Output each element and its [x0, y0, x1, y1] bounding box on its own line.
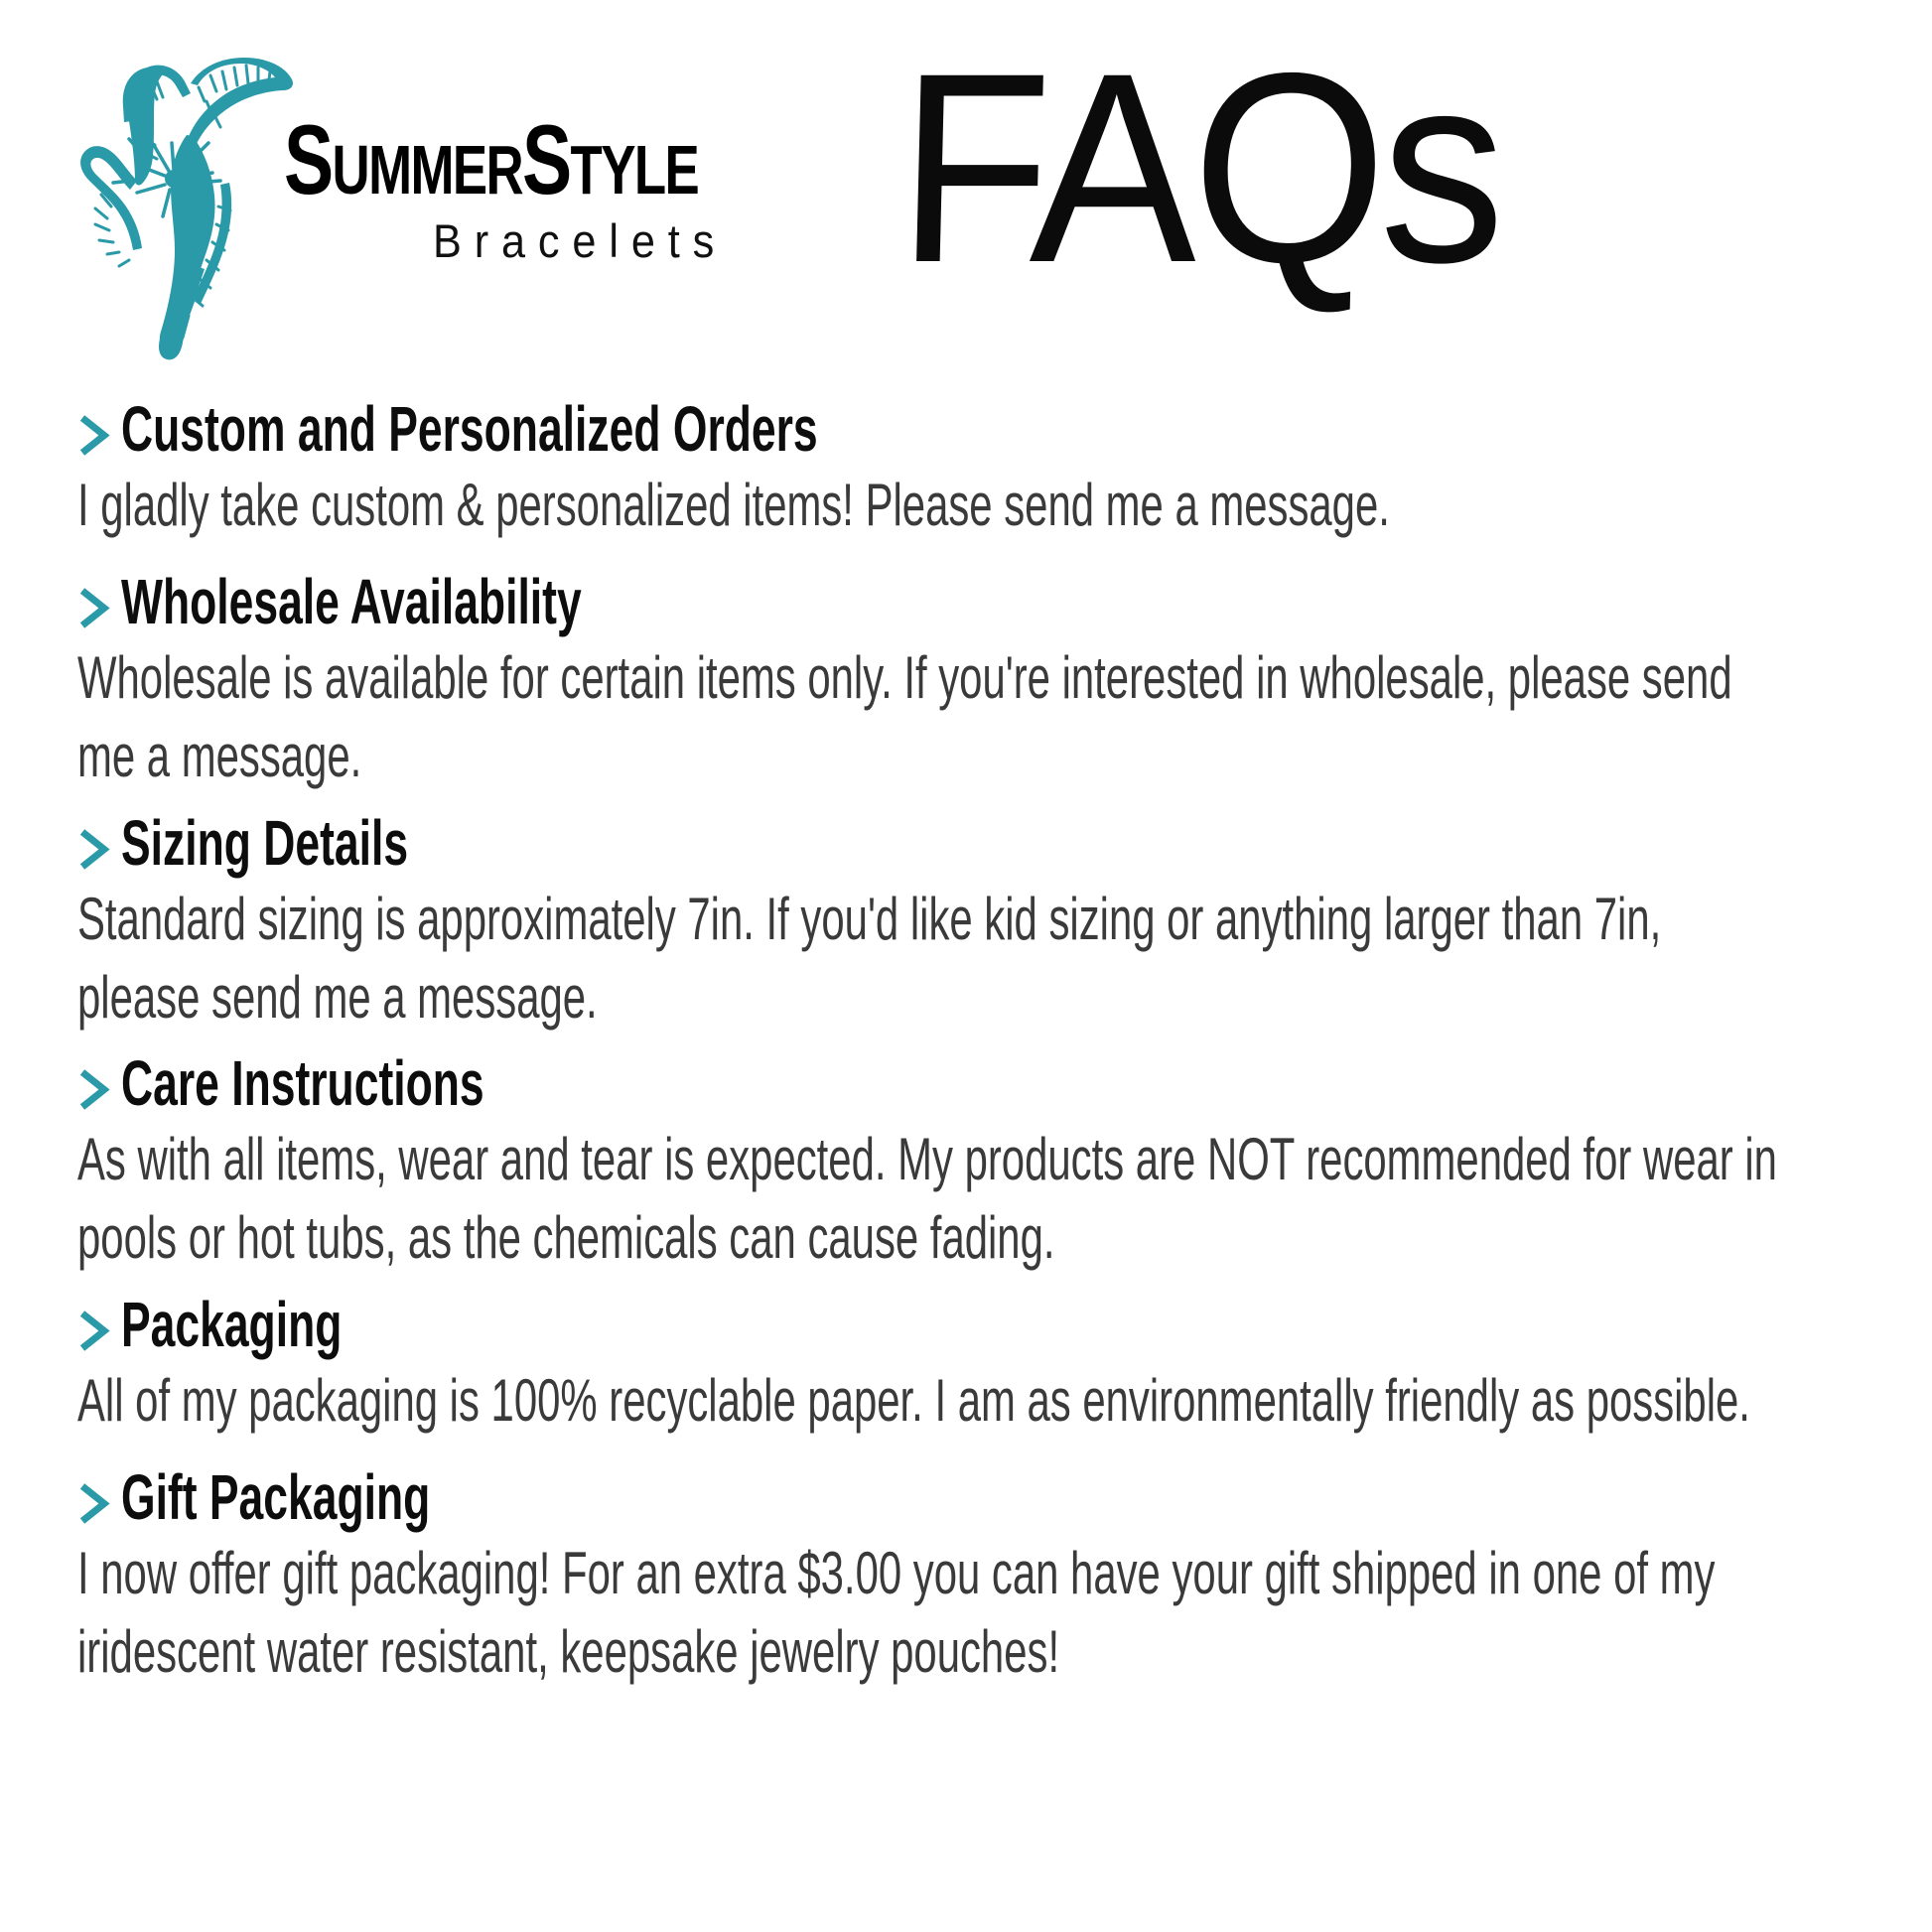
page-header: SummerStyle Bracelets FAQs — [0, 0, 1932, 397]
faq-heading-row: Wholesale Availability — [77, 578, 1805, 634]
faq-body: Wholesale is available for certain items… — [77, 640, 1787, 796]
chevron-right-icon — [77, 1310, 111, 1353]
faq-body: All of my packaging is 100% recyclable p… — [77, 1363, 1787, 1442]
faq-heading: Custom and Personalized Orders — [121, 398, 818, 462]
brand-wordmark: SummerStyle Bracelets — [284, 119, 801, 268]
faq-heading: Packaging — [121, 1294, 342, 1357]
brand-lockup: SummerStyle Bracelets — [71, 28, 801, 369]
faq-item: Custom and Personalized Orders I gladly … — [77, 405, 1805, 536]
faq-heading: Wholesale Availability — [121, 571, 582, 634]
faq-list: Custom and Personalized Orders I gladly … — [77, 405, 1805, 1715]
chevron-right-icon — [77, 1482, 111, 1526]
faq-item: Gift Packaging I now offer gift packagin… — [77, 1473, 1805, 1673]
chevron-right-icon — [77, 1068, 111, 1112]
faq-heading-row: Care Instructions — [77, 1059, 1805, 1116]
faq-heading-row: Packaging — [77, 1301, 1805, 1357]
faq-body: As with all items, wear and tear is expe… — [77, 1122, 1787, 1278]
faq-item: Sizing Details Standard sizing is approx… — [77, 819, 1805, 1019]
faq-heading: Sizing Details — [121, 812, 408, 876]
faq-body: Standard sizing is approximately 7in. If… — [77, 882, 1787, 1037]
faq-item: Wholesale Availability Wholesale is avai… — [77, 578, 1805, 777]
faq-body: I gladly take custom & personalized item… — [77, 468, 1787, 546]
faq-item: Care Instructions As with all items, wea… — [77, 1059, 1805, 1259]
chevron-right-icon — [77, 587, 111, 630]
chevron-right-icon — [77, 414, 111, 458]
faq-heading: Gift Packaging — [121, 1466, 430, 1530]
faq-heading-row: Custom and Personalized Orders — [77, 405, 1805, 462]
faq-item: Packaging All of my packaging is 100% re… — [77, 1301, 1805, 1432]
page-title: FAQs — [895, 34, 1503, 304]
brand-name-sub: Bracelets — [433, 213, 772, 268]
faq-page: SummerStyle Bracelets FAQs Custom and Pe… — [0, 0, 1932, 1932]
faq-heading-row: Gift Packaging — [77, 1473, 1805, 1530]
faq-heading-row: Sizing Details — [77, 819, 1805, 876]
starfish-icon — [71, 32, 300, 369]
brand-name-main: SummerStyle — [284, 117, 698, 205]
faq-body: I now offer gift packaging! For an extra… — [77, 1536, 1787, 1692]
faq-heading: Care Instructions — [121, 1053, 484, 1117]
chevron-right-icon — [77, 828, 111, 872]
